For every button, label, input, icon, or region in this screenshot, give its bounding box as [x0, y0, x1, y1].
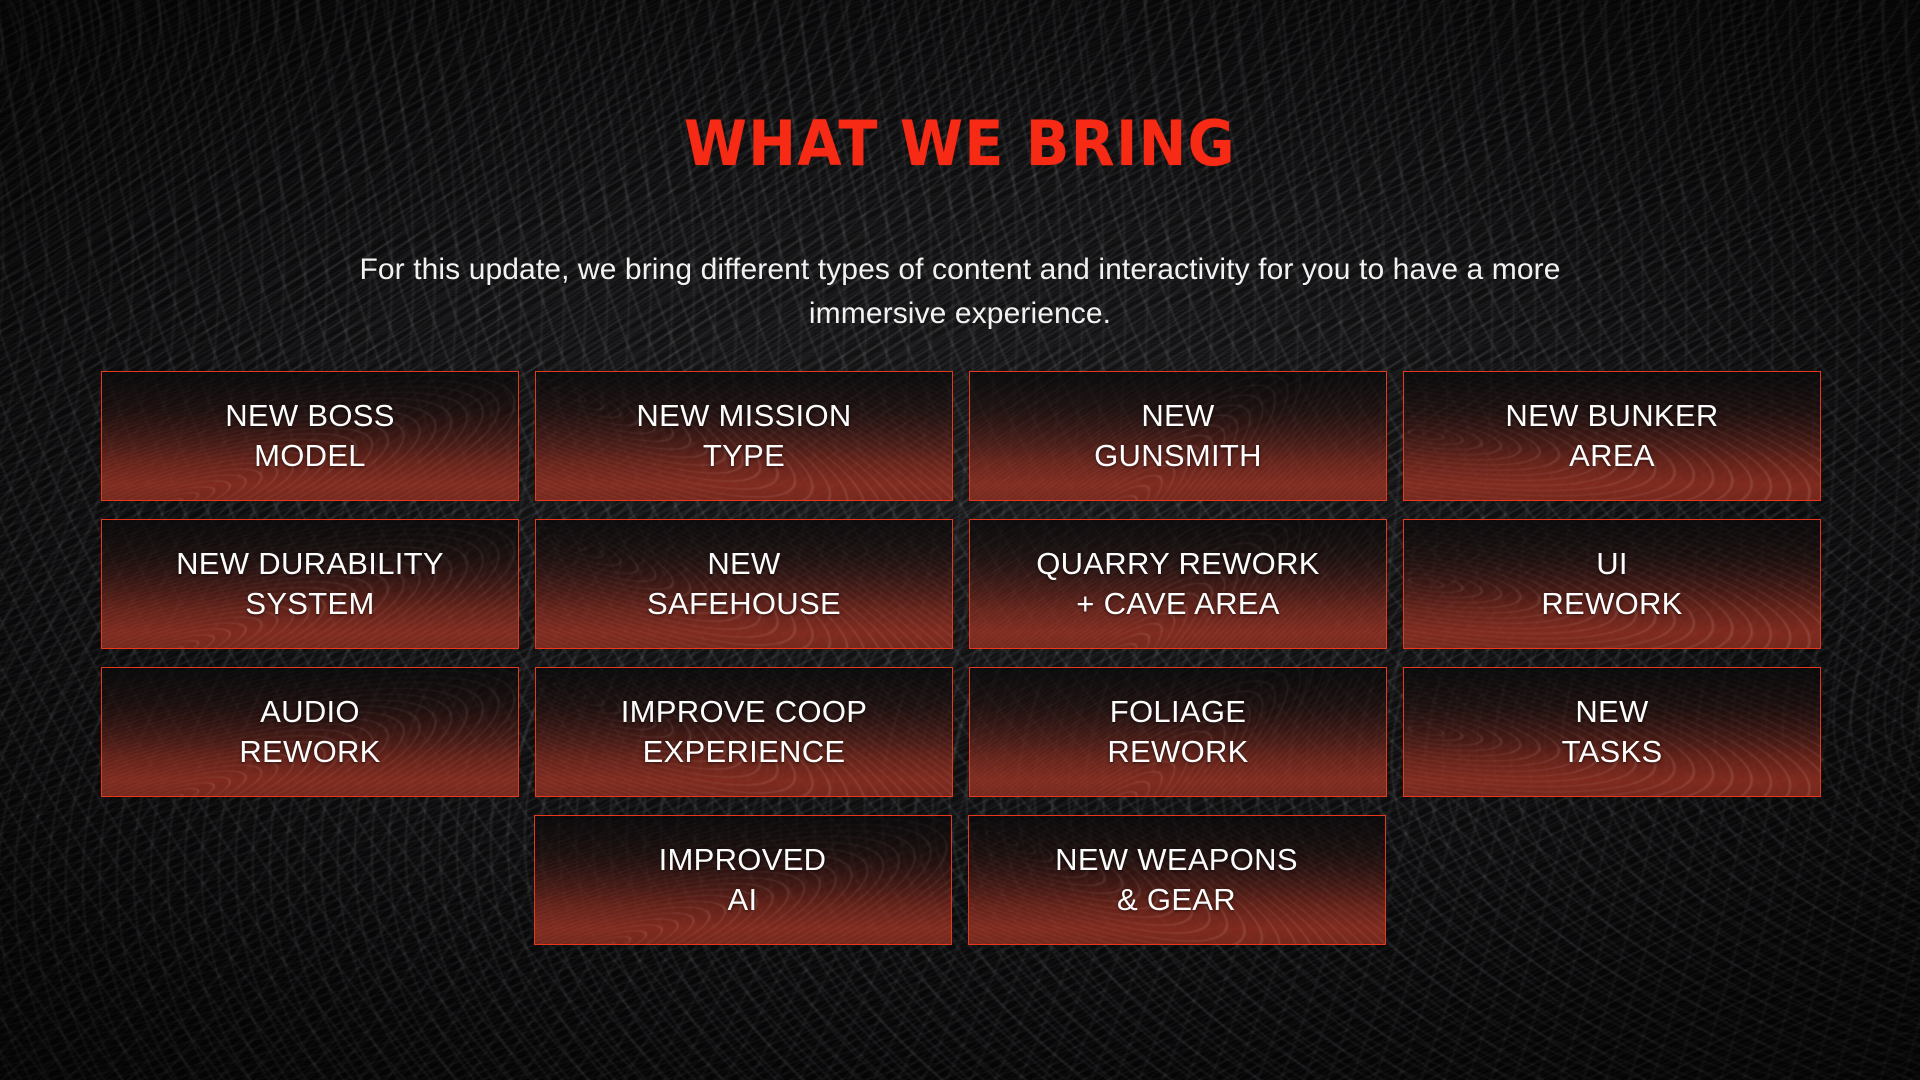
- feature-card-row: AUDIO REWORKIMPROVE COOP EXPERIENCEFOLIA…: [101, 667, 1818, 797]
- feature-card[interactable]: NEW SAFEHOUSE: [535, 519, 953, 649]
- feature-card-row: IMPROVED AINEW WEAPONS & GEAR: [101, 815, 1818, 945]
- feature-card[interactable]: NEW MISSION TYPE: [535, 371, 953, 501]
- slide-root: WHAT WE BRING For this update, we bring …: [0, 0, 1920, 1080]
- feature-card-row: NEW BOSS MODELNEW MISSION TYPENEW GUNSMI…: [101, 371, 1818, 501]
- feature-card[interactable]: NEW DURABILITY SYSTEM: [101, 519, 519, 649]
- feature-card[interactable]: NEW BUNKER AREA: [1403, 371, 1821, 501]
- feature-card-label: QUARRY REWORK + CAVE AREA: [1036, 544, 1320, 624]
- feature-card[interactable]: NEW WEAPONS & GEAR: [968, 815, 1386, 945]
- feature-card-label: NEW WEAPONS & GEAR: [1055, 840, 1298, 920]
- feature-card[interactable]: UI REWORK: [1403, 519, 1821, 649]
- feature-card[interactable]: QUARRY REWORK + CAVE AREA: [969, 519, 1387, 649]
- feature-card-label: FOLIAGE REWORK: [1107, 692, 1248, 772]
- feature-card[interactable]: NEW TASKS: [1403, 667, 1821, 797]
- feature-card[interactable]: FOLIAGE REWORK: [969, 667, 1387, 797]
- feature-card-label: AUDIO REWORK: [239, 692, 380, 772]
- feature-card[interactable]: NEW GUNSMITH: [969, 371, 1387, 501]
- feature-card-label: IMPROVE COOP EXPERIENCE: [621, 692, 867, 772]
- page-title: WHAT WE BRING: [77, 113, 1843, 175]
- feature-card[interactable]: IMPROVED AI: [534, 815, 952, 945]
- feature-card[interactable]: NEW BOSS MODEL: [101, 371, 519, 501]
- feature-card-label: NEW MISSION TYPE: [636, 396, 851, 476]
- feature-card[interactable]: AUDIO REWORK: [101, 667, 519, 797]
- slide-content: WHAT WE BRING For this update, we bring …: [0, 0, 1920, 1080]
- feature-card-label: NEW TASKS: [1562, 692, 1663, 772]
- feature-card-label: NEW BOSS MODEL: [225, 396, 394, 476]
- feature-card-label: NEW BUNKER AREA: [1505, 396, 1718, 476]
- feature-card-row: NEW DURABILITY SYSTEMNEW SAFEHOUSEQUARRY…: [101, 519, 1818, 649]
- feature-card-label: NEW DURABILITY SYSTEM: [176, 544, 444, 624]
- feature-card[interactable]: IMPROVE COOP EXPERIENCE: [535, 667, 953, 797]
- page-subtitle: For this update, we bring different type…: [290, 248, 1630, 336]
- feature-card-label: IMPROVED AI: [659, 840, 827, 920]
- feature-card-label: NEW SAFEHOUSE: [647, 544, 841, 624]
- feature-card-label: NEW GUNSMITH: [1094, 396, 1262, 476]
- feature-card-grid: NEW BOSS MODELNEW MISSION TYPENEW GUNSMI…: [101, 371, 1818, 963]
- feature-card-label: UI REWORK: [1541, 544, 1682, 624]
